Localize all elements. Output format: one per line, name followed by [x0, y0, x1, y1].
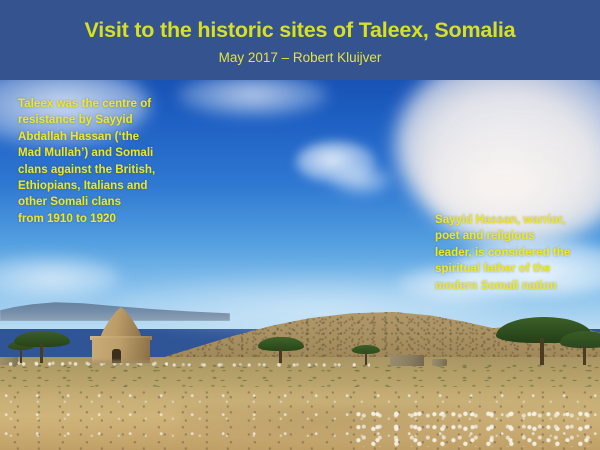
cloud: [330, 165, 392, 195]
caption-sayyid-hassan: Sayyid Hassan, warrior, poet and religio…: [435, 212, 595, 294]
tomb-base-shadow: [88, 360, 154, 364]
tree-trunk: [365, 352, 367, 365]
acacia-tree: [258, 337, 304, 363]
stone-rubble: [355, 409, 600, 447]
tree-trunk: [540, 338, 544, 365]
page-title: Visit to the historic sites of Taleex, S…: [0, 18, 600, 43]
caption-historical-context: Taleex was the centre of resistance by S…: [18, 96, 208, 227]
presentation-slide: Visit to the historic sites of Taleex, S…: [0, 0, 600, 450]
title-banner: Visit to the historic sites of Taleex, S…: [0, 0, 600, 80]
tree-trunk: [279, 348, 282, 363]
conical-tomb: [90, 307, 152, 363]
acacia-tree: [14, 331, 70, 363]
tree-trunk: [583, 345, 586, 365]
stone-ruin: [432, 359, 447, 366]
tree-trunk: [40, 344, 43, 363]
tree-canopy: [560, 331, 600, 348]
page-subtitle: May 2017 – Robert Kluijver: [0, 50, 600, 65]
acacia-tree: [352, 345, 380, 365]
stone-ruin: [390, 355, 424, 366]
acacia-tree: [560, 331, 600, 365]
